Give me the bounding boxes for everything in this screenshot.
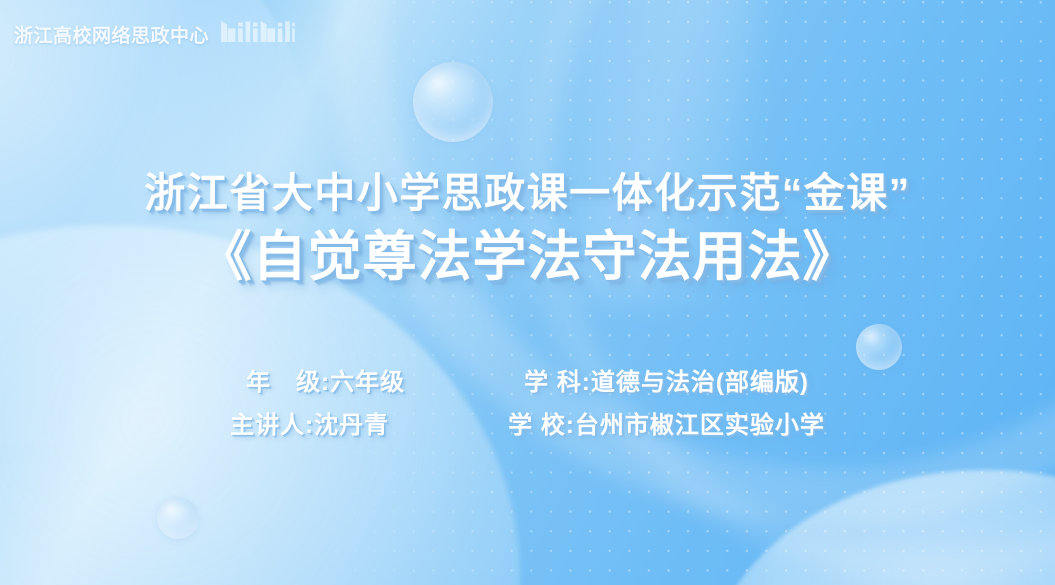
bubble-top-center: [413, 62, 493, 142]
bilibili-logo-icon: [219, 18, 295, 51]
subject-field: 学 科:道德与法治(部编版): [524, 362, 809, 397]
presenter-field: 主讲人:沈丹青: [230, 405, 508, 440]
bubble-bottom-left: [157, 497, 199, 539]
meta-row: 主讲人:沈丹青 学 校:台州市椒江区实验小学: [230, 405, 825, 440]
channel-watermark: 浙江高校网络思政中心: [14, 18, 295, 51]
grade-field: 年 级:六年级: [246, 362, 524, 397]
program-title: 浙江省大中小学思政课一体化示范“金课”: [0, 168, 1055, 219]
title-block: 浙江省大中小学思政课一体化示范“金课” 《自觉尊法学法守法用法》: [0, 168, 1055, 290]
meta-row: 年 级:六年级 学 科:道德与法治(部编版): [246, 362, 809, 397]
orb-lower-right-shape: [705, 470, 1055, 585]
channel-name-label: 浙江高校网络思政中心: [14, 21, 209, 48]
school-field: 学 校:台州市椒江区实验小学: [508, 405, 825, 440]
slide-canvas: 浙江高校网络思政中心: [0, 0, 1055, 585]
background-decoration: [0, 0, 1055, 585]
dot-grid-pattern: [300, 0, 1055, 585]
course-meta-block: 年 级:六年级 学 科:道德与法治(部编版) 主讲人:沈丹青 学 校:台州市椒江…: [0, 362, 1055, 440]
arc-sweep-secondary-shape: [520, 0, 1055, 583]
lesson-title: 《自觉尊法学法守法用法》: [0, 225, 1055, 290]
